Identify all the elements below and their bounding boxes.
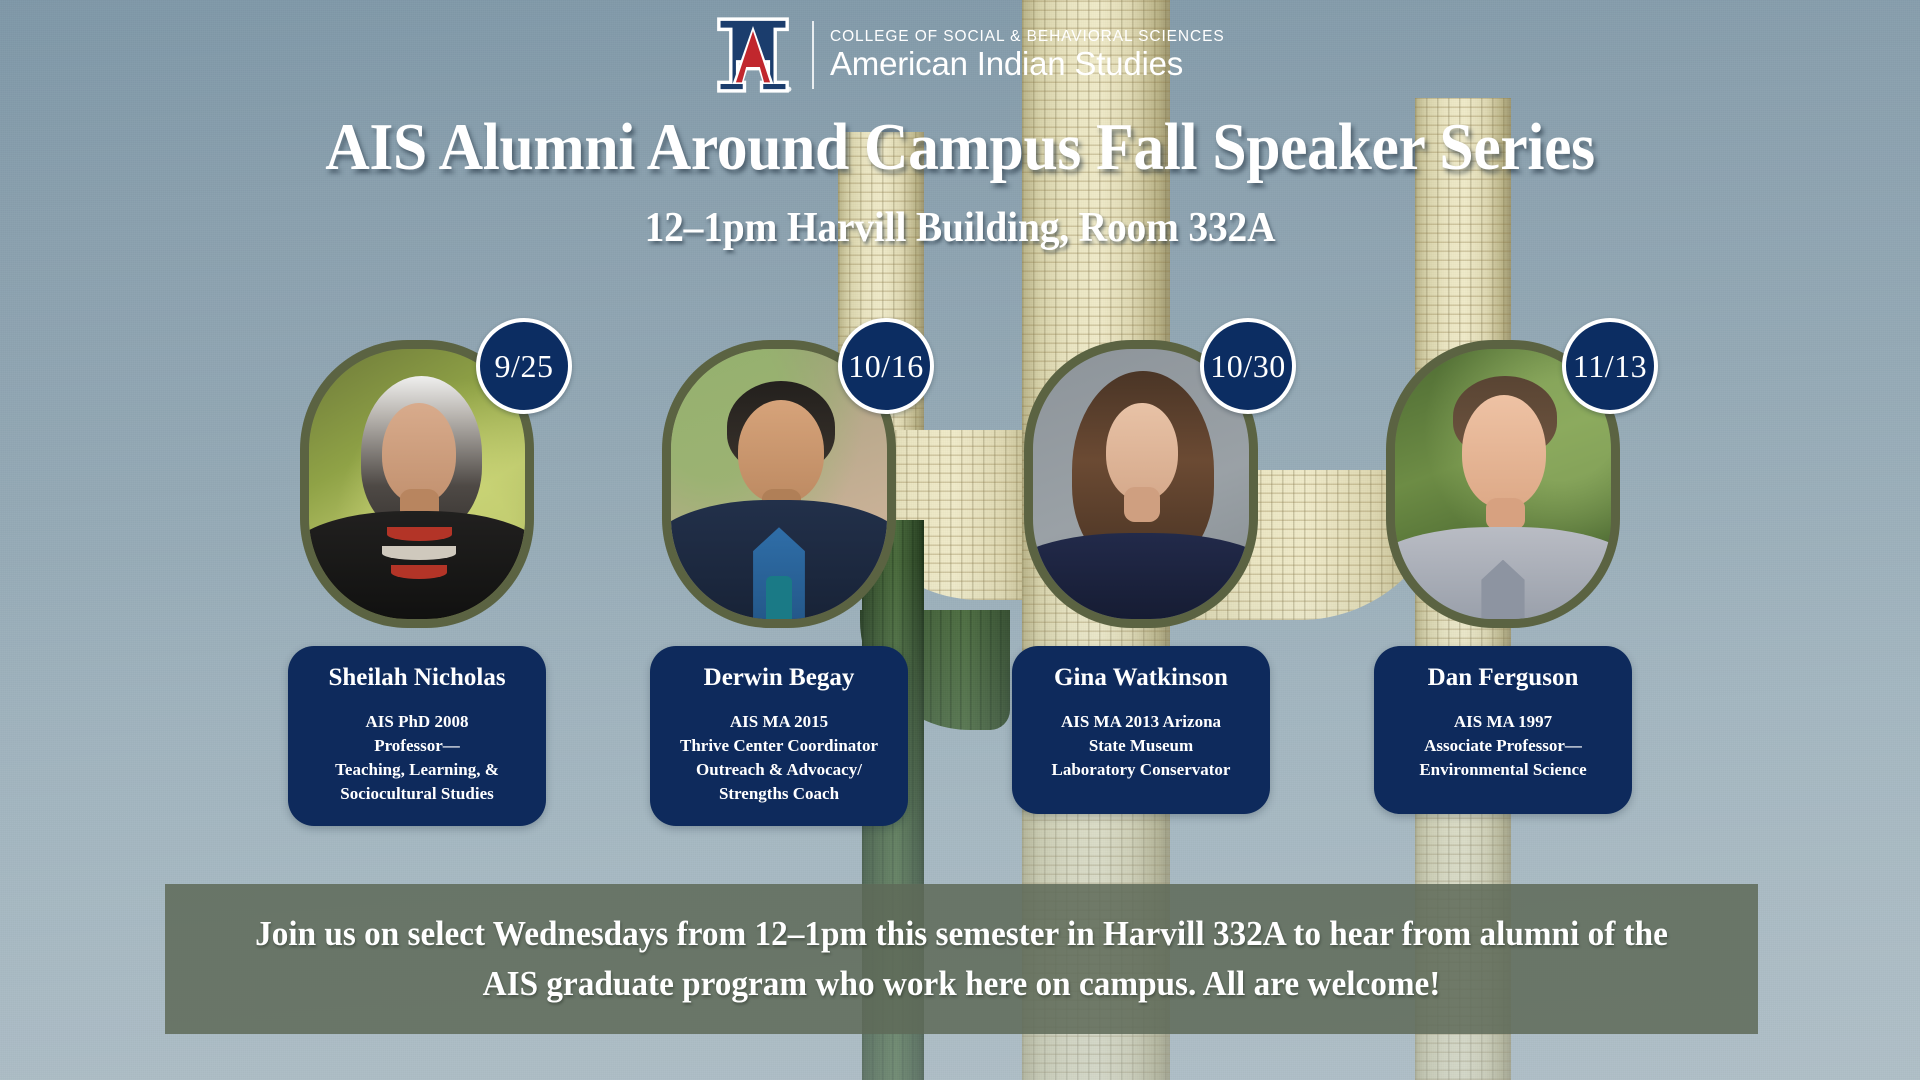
speaker-name: Sheilah Nicholas: [328, 664, 505, 692]
poster-title: AIS Alumni Around Campus Fall Speaker Se…: [77, 112, 1843, 182]
speaker-date-badge: 11/13: [1562, 318, 1658, 414]
speaker-date-badge: 10/30: [1200, 318, 1296, 414]
speaker-list: 9/25 Sheilah Nicholas AIS PhD 2008 Profe…: [0, 340, 1920, 826]
poster-subtitle: 12–1pm Harvill Building, Room 332A: [58, 204, 1863, 252]
speaker-info-card: Derwin Begay AIS MA 2015 Thrive Center C…: [650, 646, 908, 826]
university-logo-lockup: COLLEGE OF SOCIAL & BEHAVIORAL SCIENCES …: [710, 14, 1225, 96]
department-name: American Indian Studies: [830, 47, 1225, 82]
speaker-role: AIS MA 2013 Arizona State Museum Laborat…: [1052, 710, 1231, 782]
call-to-action-banner: Join us on select Wednesdays from 12–1pm…: [165, 884, 1758, 1034]
event-poster: COLLEGE OF SOCIAL & BEHAVIORAL SCIENCES …: [0, 0, 1920, 1080]
logo-divider: [812, 21, 814, 89]
speaker-date-badge: 9/25: [476, 318, 572, 414]
ua-block-a-logo-icon: [710, 14, 796, 96]
speaker-name: Dan Ferguson: [1428, 664, 1579, 692]
speaker-name: Gina Watkinson: [1054, 664, 1228, 692]
speaker-name: Derwin Begay: [704, 664, 855, 692]
speaker-role: AIS MA 2015 Thrive Center Coordinator Ou…: [680, 710, 878, 807]
college-name: COLLEGE OF SOCIAL & BEHAVIORAL SCIENCES: [830, 28, 1225, 45]
speaker-card: 10/30 Gina Watkinson AIS MA 2013 Arizona…: [1012, 340, 1270, 814]
speaker-info-card: Dan Ferguson AIS MA 1997 Associate Profe…: [1374, 646, 1632, 814]
speaker-card: 10/16 Derwin Begay AIS MA 2015 Thrive Ce…: [650, 340, 908, 826]
speaker-date-badge: 10/16: [838, 318, 934, 414]
speaker-card: 9/25 Sheilah Nicholas AIS PhD 2008 Profe…: [288, 340, 546, 826]
headline-block: AIS Alumni Around Campus Fall Speaker Se…: [0, 112, 1920, 252]
call-to-action-text: Join us on select Wednesdays from 12–1pm…: [205, 909, 1718, 1008]
speaker-card: 11/13 Dan Ferguson AIS MA 1997 Associate…: [1374, 340, 1632, 814]
speaker-role: AIS PhD 2008 Professor— Teaching, Learni…: [335, 710, 499, 807]
speaker-info-card: Gina Watkinson AIS MA 2013 Arizona State…: [1012, 646, 1270, 814]
speaker-info-card: Sheilah Nicholas AIS PhD 2008 Professor—…: [288, 646, 546, 826]
speaker-role: AIS MA 1997 Associate Professor— Environ…: [1419, 710, 1586, 782]
